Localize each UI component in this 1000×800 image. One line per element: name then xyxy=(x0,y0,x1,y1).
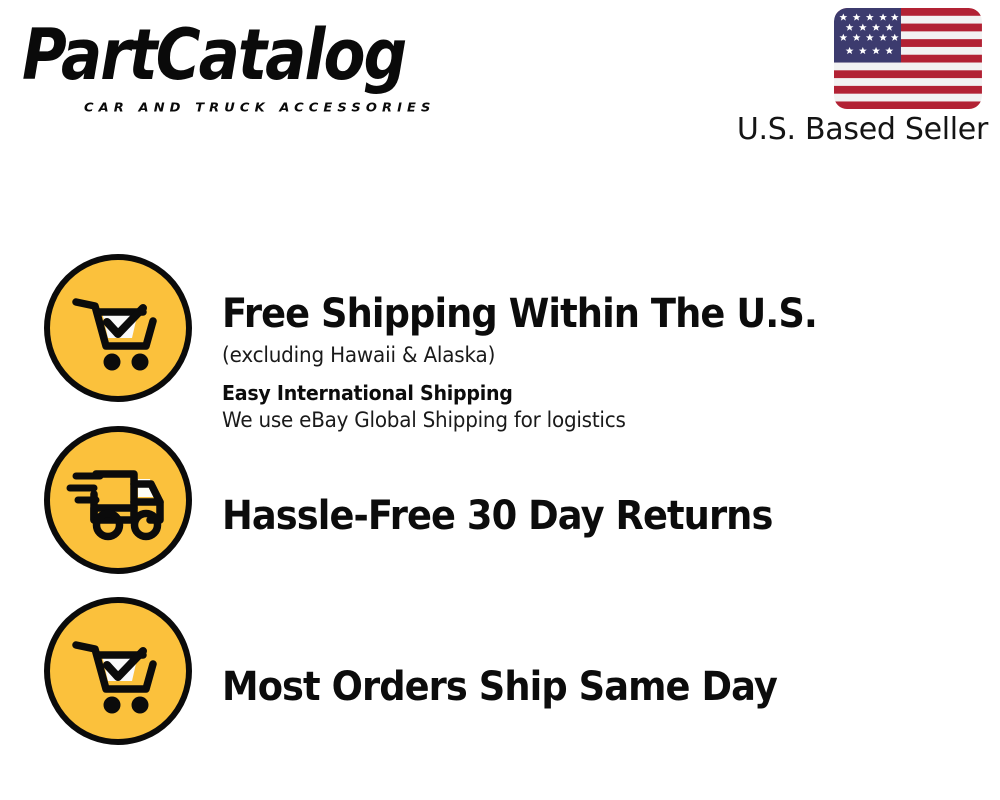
feature-list: Free Shipping Within The U.S. (excluding… xyxy=(0,180,1000,800)
feature-row: Most Orders Ship Same Day xyxy=(0,591,1000,766)
delivery-truck-icon xyxy=(44,426,192,574)
feature-title: Most Orders Ship Same Day xyxy=(222,667,929,707)
feature-row: Hassle-Free 30 Day Returns xyxy=(0,420,1000,592)
feature-row: Free Shipping Within The U.S. (excluding… xyxy=(0,248,1000,420)
brand-tagline: CAR AND TRUCK ACCESSORIES xyxy=(84,101,436,115)
us-based-seller-label: U.S. Based Seller xyxy=(718,114,988,146)
feature-text-block: Most Orders Ship Same Day xyxy=(222,667,990,707)
feature-text-block: Free Shipping Within The U.S. (excluding… xyxy=(222,294,990,432)
feature-title: Free Shipping Within The U.S. xyxy=(222,294,929,334)
feature-title: Hassle-Free 30 Day Returns xyxy=(222,496,929,536)
brand-wordmark: PartCatalog xyxy=(22,14,405,96)
feature-note: (excluding Hawaii & Alaska) xyxy=(222,343,952,367)
feature-text-block: Hassle-Free 30 Day Returns xyxy=(222,496,990,536)
us-based-seller-badge: U.S. Based Seller xyxy=(718,8,988,146)
feature-sub-title: Easy International Shipping xyxy=(222,382,952,405)
brand-logo[interactable]: PartCatalog CAR AND TRUCK ACCESSORIES xyxy=(22,18,492,118)
shopping-cart-check-icon xyxy=(44,254,192,402)
page-header: PartCatalog CAR AND TRUCK ACCESSORIES xyxy=(0,0,1000,180)
us-flag-icon xyxy=(834,8,982,109)
shopping-cart-check-icon xyxy=(44,597,192,745)
